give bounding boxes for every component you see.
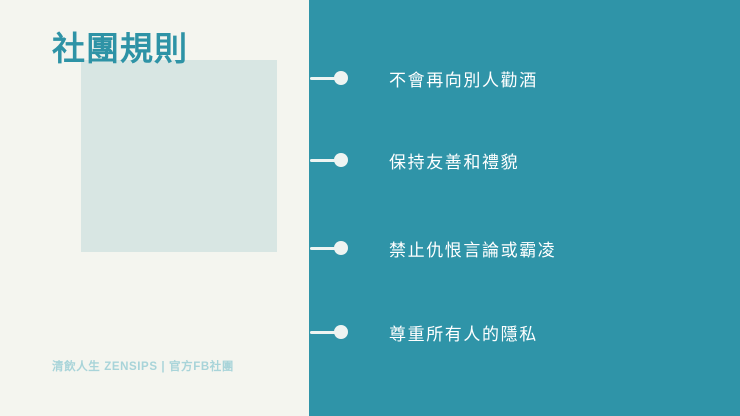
- page-title: 社團規則: [52, 28, 188, 69]
- connector-dot-icon: [334, 71, 348, 85]
- connector-dot-icon: [334, 153, 348, 167]
- slide-canvas: 社團規則 清飲人生 ZENSIPS | 官方FB社團 不會再向別人勸酒 保持友善…: [0, 0, 740, 416]
- rule-item-3: 禁止仇恨言論或霸凌: [309, 228, 740, 268]
- rule-item-label: 保持友善和禮貌: [389, 148, 519, 173]
- connector-marker-icon: [310, 241, 354, 255]
- left-panel: 社團規則 清飲人生 ZENSIPS | 官方FB社團: [0, 0, 309, 416]
- rule-item-2: 保持友善和禮貌: [309, 140, 740, 180]
- connector-marker-icon: [310, 71, 354, 85]
- connector-dot-icon: [334, 241, 348, 255]
- right-panel: 不會再向別人勸酒 保持友善和禮貌 禁止仇恨言論或霸凌 尊重所有人的隱私: [309, 0, 740, 416]
- decorative-rectangle: [81, 60, 277, 252]
- rule-item-label: 尊重所有人的隱私: [389, 320, 538, 345]
- connector-dot-icon: [334, 325, 348, 339]
- rule-item-1: 不會再向別人勸酒: [309, 58, 740, 98]
- connector-marker-icon: [310, 325, 354, 339]
- rule-item-label: 禁止仇恨言論或霸凌: [389, 236, 556, 261]
- rule-item-label: 不會再向別人勸酒: [389, 66, 538, 91]
- rule-item-4: 尊重所有人的隱私: [309, 312, 740, 352]
- footer-credit: 清飲人生 ZENSIPS | 官方FB社團: [52, 358, 234, 374]
- connector-marker-icon: [310, 153, 354, 167]
